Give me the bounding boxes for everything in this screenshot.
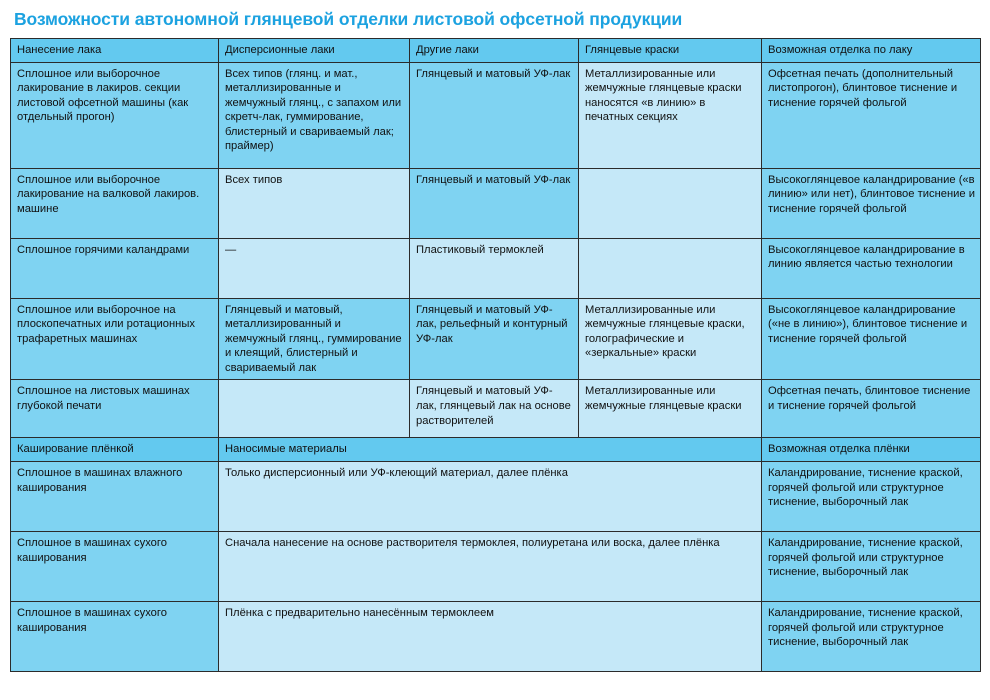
table-row: Сплошное или выборочное лакирование на в… xyxy=(11,168,981,238)
table-header-row-varnishing: Нанесение лака Дисперсионные лаки Другие… xyxy=(11,39,981,63)
cell-applied-materials: Сначала нанесение на основе растворителя… xyxy=(219,531,762,601)
cell-other-varnishes: Глянцевый и матовый УФ-лак xyxy=(410,62,579,168)
table-row: Сплошное или выборочное лакирование в ла… xyxy=(11,62,981,168)
column-header-application: Нанесение лака xyxy=(11,39,219,63)
cell-dispersion-varnishes: Глянцевый и матовый, металлизированный и… xyxy=(219,298,410,380)
cell-other-varnishes: Глянцевый и матовый УФ-лак xyxy=(410,168,579,238)
cell-dispersion-varnishes: — xyxy=(219,238,410,298)
table-row: Сплошное или выборочное на плоскопечатны… xyxy=(11,298,981,380)
finishing-options-table: Нанесение лака Дисперсионные лаки Другие… xyxy=(10,38,981,672)
page-root: Возможности автономной глянцевой отделки… xyxy=(0,0,990,700)
cell-possible-finishing: Высокоглянцевое каландрирование («в лини… xyxy=(762,168,981,238)
table-row: Сплошное в машинах сухого каширования Пл… xyxy=(11,601,981,671)
cell-possible-finishing: Высокоглянцевое каландрирование («не в л… xyxy=(762,298,981,380)
cell-lamination-type: Сплошное в машинах влажного каширования xyxy=(11,461,219,531)
cell-gloss-inks: Металлизированные или жемчужные глянцевы… xyxy=(579,298,762,380)
cell-application: Сплошное или выборочное на плоскопечатны… xyxy=(11,298,219,380)
cell-possible-finishing: Офсетная печать, блинтовое тиснение и ти… xyxy=(762,380,981,438)
cell-possible-film-finishing: Каландрирование, тиснение краской, горяч… xyxy=(762,461,981,531)
cell-lamination-type: Сплошное в машинах сухого каширования xyxy=(11,601,219,671)
cell-other-varnishes: Глянцевый и матовый УФ-лак, глянцевый ла… xyxy=(410,380,579,438)
cell-other-varnishes: Глянцевый и матовый УФ-лак, рельефный и … xyxy=(410,298,579,380)
cell-gloss-inks xyxy=(579,168,762,238)
column-header-possible-film-finishing: Возможная отделка плёнки xyxy=(762,438,981,462)
cell-dispersion-varnishes: Всех типов (глянц. и мат., металлизирова… xyxy=(219,62,410,168)
cell-application: Сплошное или выборочное лакирование в ла… xyxy=(11,62,219,168)
page-title-bar: Возможности автономной глянцевой отделки… xyxy=(10,0,980,38)
cell-gloss-inks: Металлизированные или жемчужные глянцевы… xyxy=(579,62,762,168)
cell-application: Сплошное или выборочное лакирование на в… xyxy=(11,168,219,238)
column-header-gloss-inks: Глянцевые краски xyxy=(579,39,762,63)
column-header-dispersion-varnishes: Дисперсионные лаки xyxy=(219,39,410,63)
cell-possible-finishing: Высокоглянцевое каландрирование в линию … xyxy=(762,238,981,298)
table-row: Сплошное в машинах сухого каширования Сн… xyxy=(11,531,981,601)
cell-other-varnishes: Пластиковый термоклей xyxy=(410,238,579,298)
table-row: Сплошное горячими каландрами — Пластиков… xyxy=(11,238,981,298)
table-header-row-lamination: Каширование плёнкой Наносимые материалы … xyxy=(11,438,981,462)
cell-possible-film-finishing: Каландрирование, тиснение краской, горяч… xyxy=(762,601,981,671)
table-row: Сплошное на листовых машинах глубокой пе… xyxy=(11,380,981,438)
cell-lamination-type: Сплошное в машинах сухого каширования xyxy=(11,531,219,601)
cell-application: Сплошное горячими каландрами xyxy=(11,238,219,298)
table-row: Сплошное в машинах влажного каширования … xyxy=(11,461,981,531)
cell-possible-film-finishing: Каландрирование, тиснение краской, горяч… xyxy=(762,531,981,601)
column-header-applied-materials: Наносимые материалы xyxy=(219,438,762,462)
cell-dispersion-varnishes: Всех типов xyxy=(219,168,410,238)
cell-possible-finishing: Офсетная печать (дополнительный листопро… xyxy=(762,62,981,168)
cell-application: Сплошное на листовых машинах глубокой пе… xyxy=(11,380,219,438)
cell-gloss-inks: Металлизированные или жемчужные глянцевы… xyxy=(579,380,762,438)
column-header-other-varnishes: Другие лаки xyxy=(410,39,579,63)
column-header-film-lamination: Каширование плёнкой xyxy=(11,438,219,462)
cell-applied-materials: Плёнка с предварительно нанесённым термо… xyxy=(219,601,762,671)
cell-applied-materials: Только дисперсионный или УФ-клеющий мате… xyxy=(219,461,762,531)
column-header-possible-varnish-finishing: Возможная отделка по лаку xyxy=(762,39,981,63)
cell-dispersion-varnishes xyxy=(219,380,410,438)
cell-gloss-inks xyxy=(579,238,762,298)
page-title: Возможности автономной глянцевой отделки… xyxy=(14,9,682,30)
